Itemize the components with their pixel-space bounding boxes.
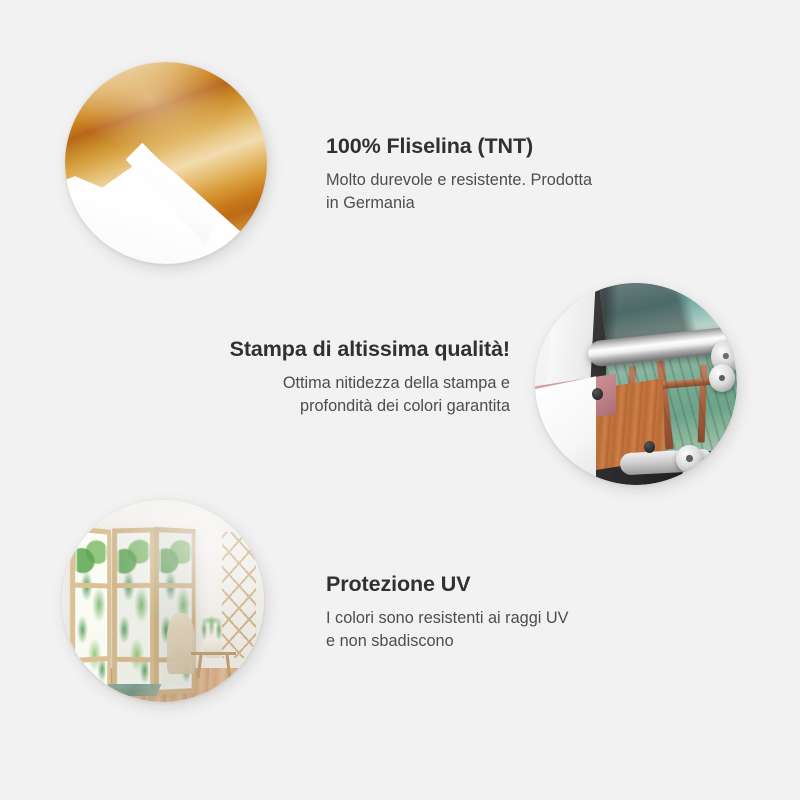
feature-protezione-uv-headline: Protezione UV [326,572,569,598]
feature-protezione-uv: Protezione UV I colori sono resistenti a… [0,500,800,720]
white-media-edge [535,376,596,485]
body-line: profondità dei colori garantita [140,395,510,418]
wallpaper-peeled-corner-photo [65,62,267,264]
feed-knob [592,388,603,400]
body-line: Molto durevole e resistente. Prodotta [326,169,592,192]
printer-photo-inner [535,283,737,485]
feature-stampa-qualita-body: Ottima nitidezza della stampa e profondi… [140,372,510,418]
feed-disc [709,364,735,392]
feature-fliselina-headline: 100% Fliselina (TNT) [326,134,592,160]
room-divider-tropical-wallpaper-photo [62,500,264,702]
feed-knob [644,441,655,453]
body-line: e non sbadiscono [326,630,569,653]
body-line: Ottima nitidezza della stampa e [140,372,510,395]
feature-stampa-qualita-copy: Stampa di altissima qualità! Ottima niti… [140,337,510,418]
bridge-post [697,364,706,442]
feature-stampa-qualita: Stampa di altissima qualità! Ottima niti… [0,275,800,495]
feature-fliselina-body: Molto durevole e resistente. Prodotta in… [326,169,592,215]
feature-fliselina-copy: 100% Fliselina (TNT) Molto durevole e re… [326,134,592,215]
room-photo-inner [62,500,264,702]
wallpaper-sheen [65,62,267,264]
wallpaper-photo-inner [65,62,267,264]
product-features-infographic: 100% Fliselina (TNT) Molto durevole e re… [0,0,800,800]
feed-disc [676,445,702,473]
body-line: I colori sono resistenti ai raggi UV [326,607,569,630]
large-format-printer-photo [535,283,737,485]
feature-fliselina: 100% Fliselina (TNT) Molto durevole e re… [0,0,800,270]
feature-protezione-uv-copy: Protezione UV I colori sono resistenti a… [326,572,569,653]
feature-stampa-qualita-headline: Stampa di altissima qualità! [140,337,510,363]
feature-protezione-uv-body: I colori sono resistenti ai raggi UV e n… [326,607,569,653]
room-light-haze [62,500,264,702]
body-line: in Germania [326,192,592,215]
